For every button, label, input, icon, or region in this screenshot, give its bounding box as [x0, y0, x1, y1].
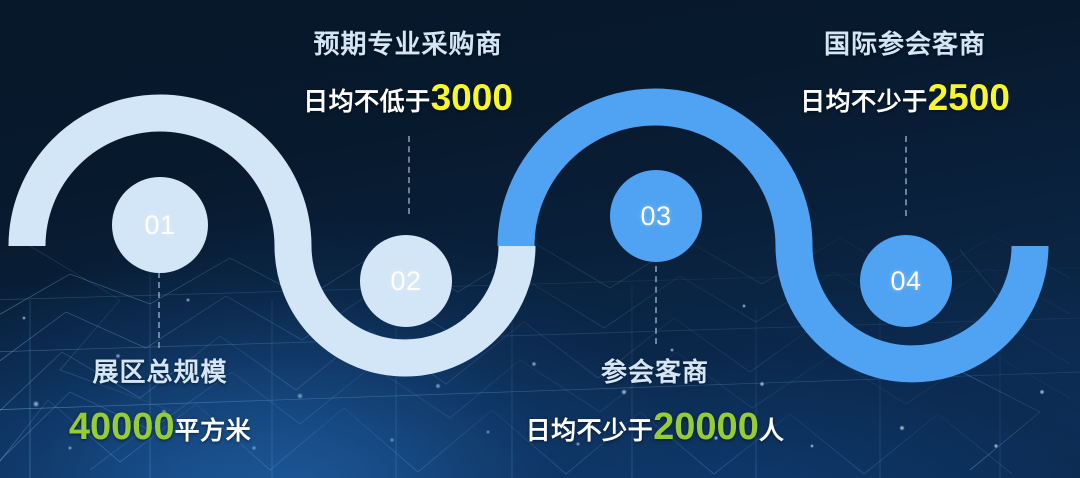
callout-03-header: 参会客商	[495, 352, 815, 389]
callout-03-number: 20000	[653, 406, 759, 448]
node-circle-01[interactable]: 01	[112, 177, 208, 273]
callout-02: 预期专业采购商 日均不低于3000	[248, 24, 568, 119]
node-circle-04[interactable]: 04	[860, 235, 952, 327]
connector-line-02	[408, 136, 410, 214]
callout-04-lead: 日均不少于	[800, 88, 928, 116]
callout-03-value: 日均不少于20000人	[495, 406, 815, 449]
ribbon-bright-segment	[516, 107, 1030, 364]
node-circle-03[interactable]: 03	[610, 170, 702, 262]
callout-01: 展区总规模 40000平方米	[0, 352, 320, 449]
callout-02-lead: 日均不低于	[303, 88, 431, 116]
ribbon-pale-segment	[27, 113, 517, 358]
callout-01-header: 展区总规模	[0, 352, 320, 389]
callout-03-unit: 人	[759, 417, 785, 445]
callout-03: 参会客商 日均不少于20000人	[495, 352, 815, 449]
callout-03-lead: 日均不少于	[526, 417, 654, 445]
callout-01-number: 40000	[69, 406, 175, 448]
connector-line-01	[158, 272, 160, 348]
node-label-03: 03	[640, 201, 671, 232]
callout-02-header: 预期专业采购商	[248, 24, 568, 61]
callout-04-header: 国际参会客商	[745, 24, 1065, 61]
node-label-01: 01	[144, 210, 175, 241]
node-label-04: 04	[890, 266, 921, 297]
callout-04-number: 2500	[928, 77, 1010, 118]
connector-line-04	[905, 136, 907, 216]
callout-04: 国际参会客商 日均不少于2500	[745, 24, 1065, 119]
callout-01-value: 40000平方米	[0, 406, 320, 449]
node-circle-02[interactable]: 02	[360, 235, 452, 327]
callout-02-number: 3000	[431, 77, 513, 118]
callout-01-unit: 平方米	[175, 417, 252, 445]
connector-line-03	[655, 266, 657, 344]
infographic-canvas: 01 02 03 04 展区总规模 40000平方米 预期专业采购商 日均不低于…	[0, 0, 1080, 478]
callout-02-value: 日均不低于3000	[248, 77, 568, 119]
node-label-02: 02	[390, 266, 421, 297]
callout-04-value: 日均不少于2500	[745, 77, 1065, 119]
